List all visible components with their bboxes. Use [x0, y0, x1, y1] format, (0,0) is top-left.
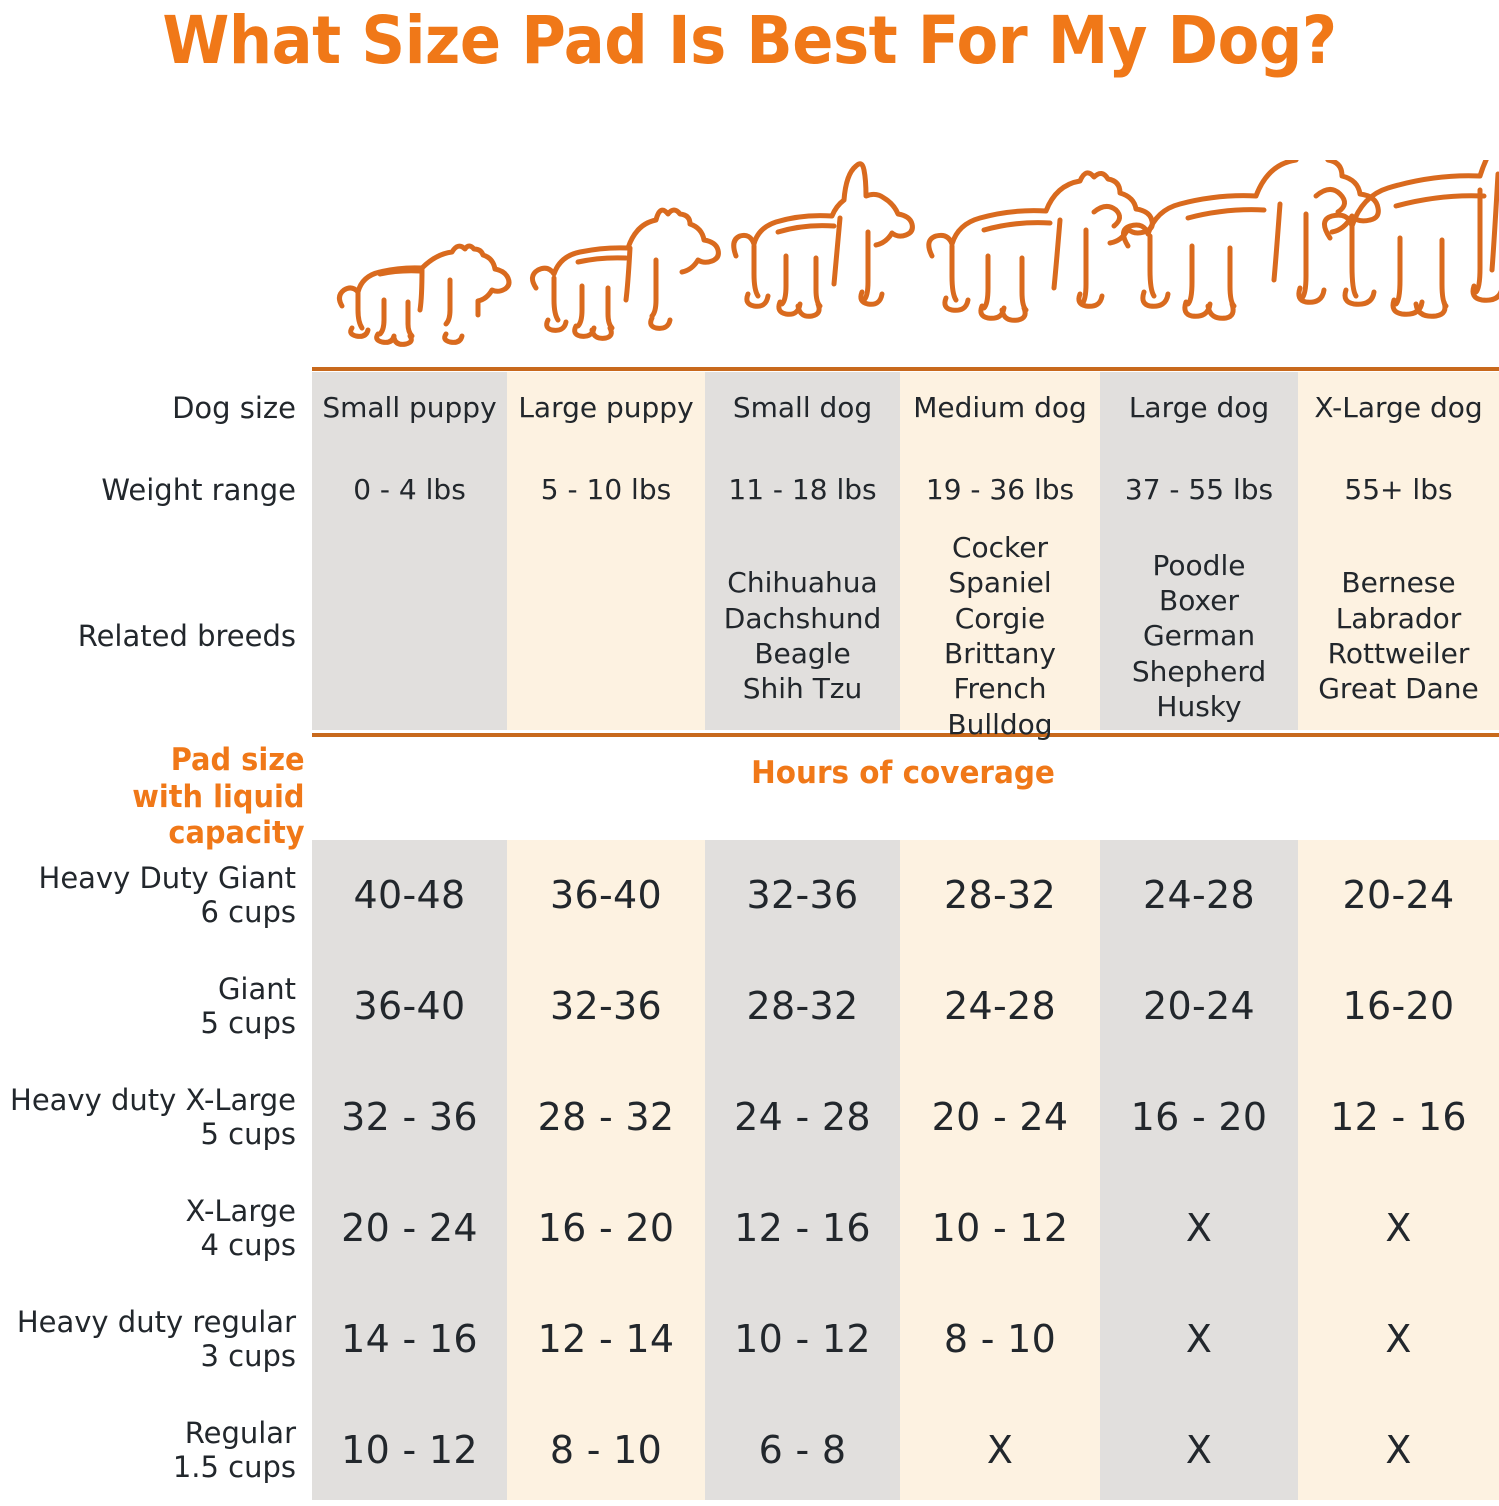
cell-weight-1: 5 - 10 lbs — [507, 473, 705, 507]
cell-hours: 32 - 36 — [312, 1094, 507, 1140]
cell-hours: 16-20 — [1298, 983, 1499, 1029]
table-row: Heavy Duty Giant 6 cups 40-48 36-40 32-3… — [0, 840, 1499, 951]
cell-hours: 28-32 — [900, 872, 1100, 918]
cell-hours: 16 - 20 — [507, 1205, 705, 1251]
cell-hours: X — [1100, 1427, 1298, 1473]
cell-hours: 24 - 28 — [705, 1094, 900, 1140]
orange-rule-top — [312, 367, 1499, 371]
dog-silhouettes-svg — [312, 160, 1499, 370]
cell-hours: 36-40 — [507, 872, 705, 918]
row-label-pad-size: X-Large 4 cups — [0, 1195, 312, 1262]
table-row: Regular 1.5 cups 10 - 12 8 - 10 6 - 8 X … — [0, 1395, 1499, 1506]
cell-hours: 28 - 32 — [507, 1094, 705, 1140]
row-label-dog-size: Dog size — [0, 391, 312, 425]
cell-hours: 12 - 16 — [705, 1205, 900, 1251]
cell-hours: 14 - 16 — [312, 1316, 507, 1362]
page-title: What Size Pad Is Best For My Dog? — [60, 6, 1439, 75]
table-row: Heavy duty regular 3 cups 14 - 16 12 - 1… — [0, 1284, 1499, 1395]
cell-hours: 24-28 — [900, 983, 1100, 1029]
row-label-weight-range: Weight range — [0, 473, 312, 507]
row-label-pad-size: Heavy duty X-Large 5 cups — [0, 1084, 312, 1151]
cell-hours: 20-24 — [1298, 872, 1499, 918]
row-label-pad-size: Heavy Duty Giant 6 cups — [0, 862, 312, 929]
cell-hours: 32-36 — [705, 872, 900, 918]
cell-dog-size-2: Small dog — [705, 391, 900, 425]
cell-breeds-2: Chihuahua Dachshund Beagle Shih Tzu — [705, 565, 900, 706]
cell-hours: 8 - 10 — [507, 1427, 705, 1473]
table-row-weight-range: Weight range 0 - 4 lbs 5 - 10 lbs 11 - 1… — [0, 444, 1499, 536]
cell-hours: 10 - 12 — [312, 1427, 507, 1473]
table-row-dog-size: Dog size Small puppy Large puppy Small d… — [0, 372, 1499, 444]
table-row: Heavy duty X-Large 5 cups 32 - 36 28 - 3… — [0, 1062, 1499, 1173]
row-label-pad-size: Regular 1.5 cups — [0, 1417, 312, 1484]
cell-hours: 16 - 20 — [1100, 1094, 1298, 1140]
cell-hours: X — [900, 1427, 1100, 1473]
table-row: X-Large 4 cups 20 - 24 16 - 20 12 - 16 1… — [0, 1173, 1499, 1284]
cell-hours: 6 - 8 — [705, 1427, 900, 1473]
hours-of-coverage-table: Heavy Duty Giant 6 cups 40-48 36-40 32-3… — [0, 840, 1499, 1506]
cell-dog-size-1: Large puppy — [507, 391, 705, 425]
cell-hours: X — [1100, 1205, 1298, 1251]
cell-hours: 12 - 14 — [507, 1316, 705, 1362]
dog-silhouette-large-puppy — [532, 210, 718, 338]
cell-weight-4: 37 - 55 lbs — [1100, 473, 1298, 507]
cell-hours: 12 - 16 — [1298, 1094, 1499, 1140]
cell-hours: 40-48 — [312, 872, 507, 918]
cell-hours: 10 - 12 — [705, 1316, 900, 1362]
dog-silhouette-xlarge-dog — [1324, 160, 1499, 316]
table-row-related-breeds: Related breeds Chihuahua Dachshund Beagl… — [0, 536, 1499, 736]
section-header-hours-of-coverage: Hours of coverage — [715, 755, 1091, 791]
cell-breeds-4: Poodle Boxer German Shepherd Husky — [1100, 548, 1298, 724]
cell-hours: 28-32 — [705, 983, 900, 1029]
cell-weight-0: 0 - 4 lbs — [312, 473, 507, 507]
row-label-pad-size: Heavy duty regular 3 cups — [0, 1306, 312, 1373]
cell-hours: 8 - 10 — [900, 1316, 1100, 1362]
dog-silhouette-row — [312, 160, 1499, 370]
cell-hours: 20-24 — [1100, 983, 1298, 1029]
table-row: Giant 5 cups 36-40 32-36 28-32 24-28 20-… — [0, 951, 1499, 1062]
cell-dog-size-4: Large dog — [1100, 391, 1298, 425]
cell-dog-size-5: X-Large dog — [1298, 391, 1499, 425]
section-header-pad-size: Pad size with liquid capacity — [22, 742, 312, 852]
cell-weight-3: 19 - 36 lbs — [900, 473, 1100, 507]
cell-dog-size-0: Small puppy — [312, 391, 507, 425]
cell-hours: 20 - 24 — [900, 1094, 1100, 1140]
cell-breeds-5: Bernese Labrador Rottweiler Great Dane — [1298, 565, 1499, 706]
cell-weight-5: 55+ lbs — [1298, 473, 1499, 507]
cell-hours: 10 - 12 — [900, 1205, 1100, 1251]
cell-hours: X — [1100, 1316, 1298, 1362]
cell-hours: 20 - 24 — [312, 1205, 507, 1251]
row-label-pad-size: Giant 5 cups — [0, 973, 312, 1040]
cell-hours: X — [1298, 1316, 1499, 1362]
dog-silhouette-small-puppy — [339, 246, 509, 344]
cell-breeds-3: Cocker Spaniel Corgie Brittany French Bu… — [900, 530, 1100, 742]
cell-weight-2: 11 - 18 lbs — [705, 473, 900, 507]
cell-hours: 36-40 — [312, 983, 507, 1029]
dog-size-table: Dog size Small puppy Large puppy Small d… — [0, 372, 1499, 736]
cell-hours: 24-28 — [1100, 872, 1298, 918]
cell-hours: X — [1298, 1205, 1499, 1251]
dog-silhouette-large-dog — [1123, 160, 1378, 318]
row-label-related-breeds: Related breeds — [0, 619, 312, 653]
cell-hours: 32-36 — [507, 983, 705, 1029]
dog-silhouette-small-dog — [734, 164, 913, 317]
dog-silhouette-medium-dog — [929, 173, 1153, 320]
cell-dog-size-3: Medium dog — [900, 391, 1100, 425]
cell-hours: X — [1298, 1427, 1499, 1473]
